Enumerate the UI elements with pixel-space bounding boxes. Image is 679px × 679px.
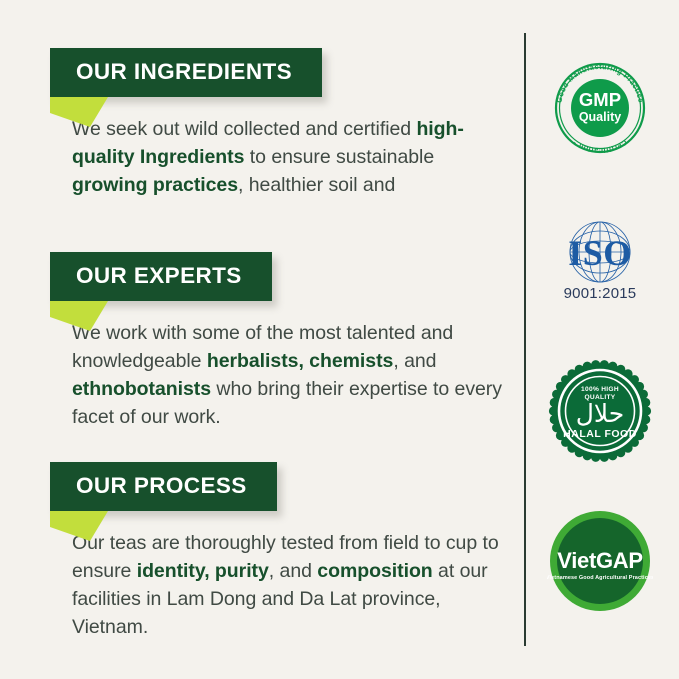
banner-label-ingredients: OUR INGREDIENTS: [76, 61, 292, 84]
svg-text:GMP: GMP: [579, 89, 621, 110]
iso-9001-badge-icon: ISO 9001:2015: [547, 218, 653, 310]
banner-experts: OUR EXPERTS: [50, 252, 272, 301]
svg-text:Quality: Quality: [579, 110, 621, 124]
svg-text:Vietnamese Good Agricultural P: Vietnamese Good Agricultural Practices: [547, 575, 653, 581]
section-ingredients: OUR INGREDIENTS We seek out wild collect…: [0, 48, 524, 199]
banner-tail-icon: [50, 97, 108, 127]
banner-wrap-experts: OUR EXPERTS: [50, 252, 524, 301]
vietgap-badge-icon: VietGAP Vietnamese Good Agricultural Pra…: [547, 508, 653, 614]
banner-label-process: OUR PROCESS: [76, 475, 247, 498]
svg-text:100% HIGH: 100% HIGH: [581, 386, 619, 393]
svg-text:حلال: حلال: [576, 399, 625, 428]
content-column: OUR INGREDIENTS We seek out wild collect…: [0, 0, 524, 679]
paragraph-ingredients: We seek out wild collected and certified…: [72, 115, 504, 199]
banner-wrap-ingredients: OUR INGREDIENTS: [50, 48, 524, 97]
banner-wrap-process: OUR PROCESS: [50, 462, 524, 511]
banner-label-experts: OUR EXPERTS: [76, 265, 242, 288]
banner-ingredients: OUR INGREDIENTS: [50, 48, 322, 97]
svg-text:VietGAP: VietGAP: [557, 548, 643, 573]
certification-badge-column: Good Manufacturing Practise Certificatio…: [534, 0, 679, 679]
svg-text:HALAL FOOD: HALAL FOOD: [563, 428, 637, 440]
banner-tail-icon: [50, 511, 108, 541]
svg-text:9001:2015: 9001:2015: [564, 285, 637, 302]
vertical-divider: [524, 33, 526, 646]
section-process: OUR PROCESS Our teas are thoroughly test…: [0, 462, 524, 641]
paragraph-process: Our teas are thoroughly tested from fiel…: [72, 529, 504, 641]
svg-text:ISO: ISO: [568, 233, 632, 273]
infographic-page: OUR INGREDIENTS We seek out wild collect…: [0, 0, 679, 679]
gmp-quality-badge-icon: Good Manufacturing Practise Certificatio…: [547, 55, 653, 161]
section-experts: OUR EXPERTS We work with some of the mos…: [0, 252, 524, 431]
banner-tail-icon: [50, 301, 108, 331]
paragraph-experts: We work with some of the most talented a…: [72, 319, 504, 431]
halal-food-badge-icon: 100% HIGH QUALITY حلال HALAL FOOD: [547, 358, 653, 464]
banner-process: OUR PROCESS: [50, 462, 277, 511]
